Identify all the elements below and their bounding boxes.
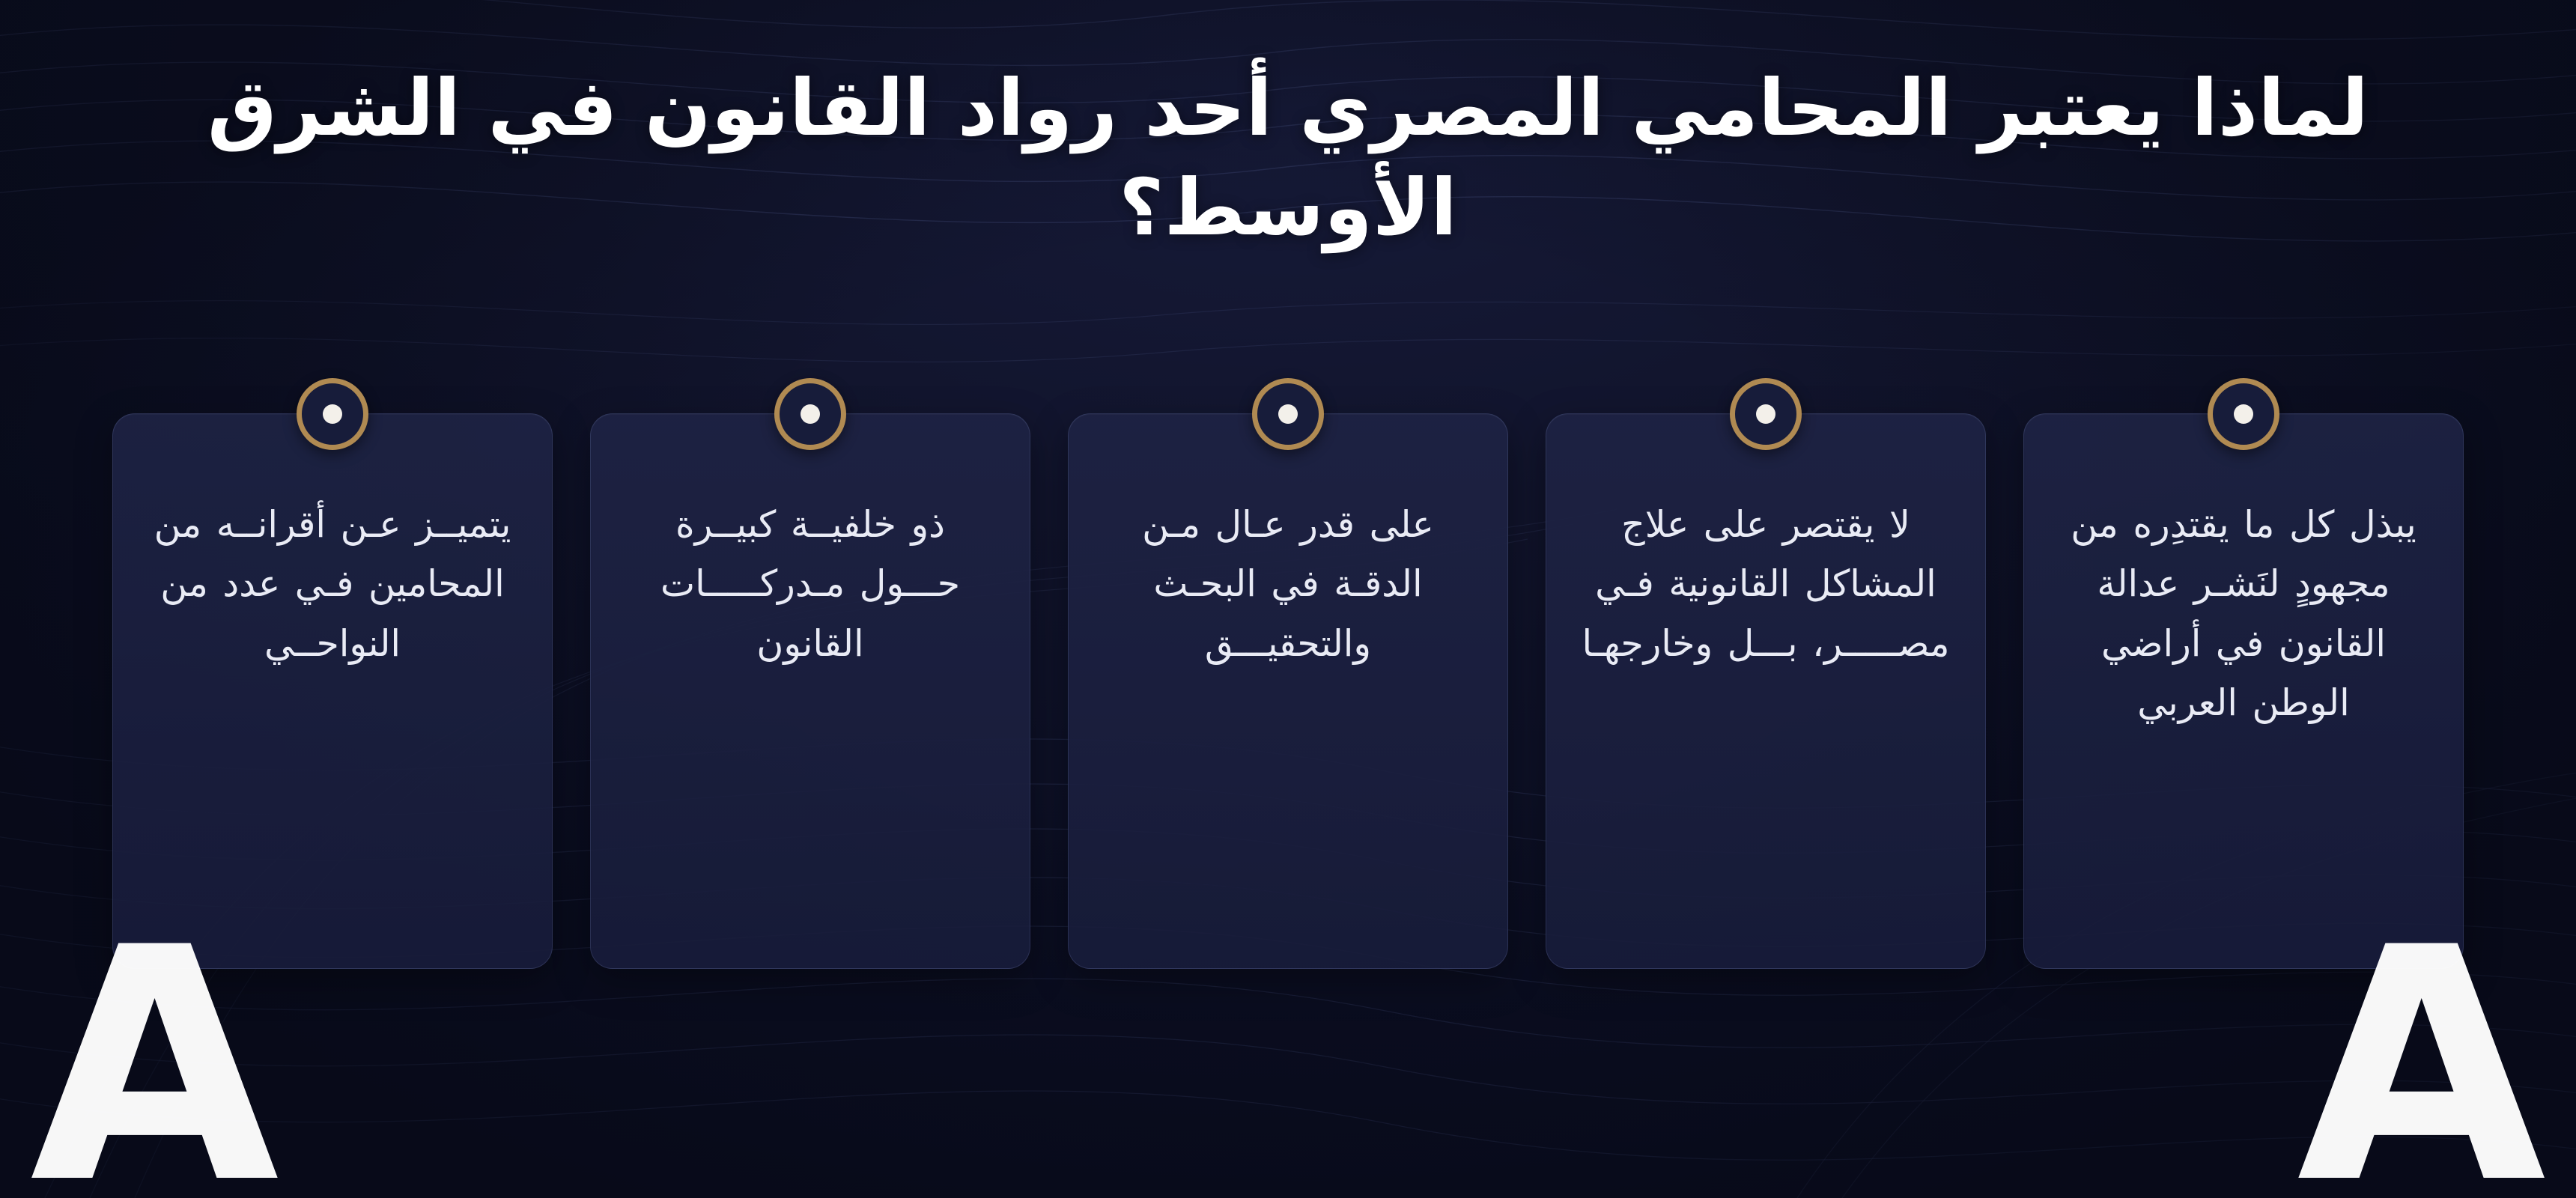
slide-title: لماذا يعتبر المحامي المصري أحد رواد القا…: [202, 58, 2374, 258]
feature-card-text: يتميــز عـن أقرانــه من المحامين فـي عدد…: [146, 495, 519, 673]
decorative-glyph-right: A: [2297, 906, 2546, 1198]
bullet-dot-icon: [774, 378, 846, 450]
feature-card-2: لا يقتصر على علاج المشاكل القانونية فـي …: [1546, 413, 1986, 969]
decorative-glyph-left: A: [30, 906, 279, 1198]
feature-card-text: على قدر عـال مـن الدقـة في البحـث والتحق…: [1102, 495, 1474, 673]
bullet-dot-icon: [297, 378, 368, 450]
bullet-dot-icon: [1252, 378, 1324, 450]
feature-card-3: على قدر عـال مـن الدقـة في البحـث والتحق…: [1068, 413, 1508, 969]
bullet-dot-icon: [2208, 378, 2279, 450]
feature-card-4: ذو خلفيــة كبيــرة حـــول مـدركـــــات ا…: [590, 413, 1030, 969]
features-card-row: يبذل كل ما يقتدِره من مجهودٍ لنَشـر عدال…: [112, 413, 2464, 969]
feature-card-text: لا يقتصر على علاج المشاكل القانونية فـي …: [1579, 495, 1952, 673]
bullet-dot-icon: [1730, 378, 1802, 450]
feature-card-text: يبذل كل ما يقتدِره من مجهودٍ لنَشـر عدال…: [2057, 495, 2430, 733]
feature-card-text: ذو خلفيــة كبيــرة حـــول مـدركـــــات ا…: [624, 495, 997, 673]
slide-canvas: لماذا يعتبر المحامي المصري أحد رواد القا…: [0, 0, 2576, 1198]
